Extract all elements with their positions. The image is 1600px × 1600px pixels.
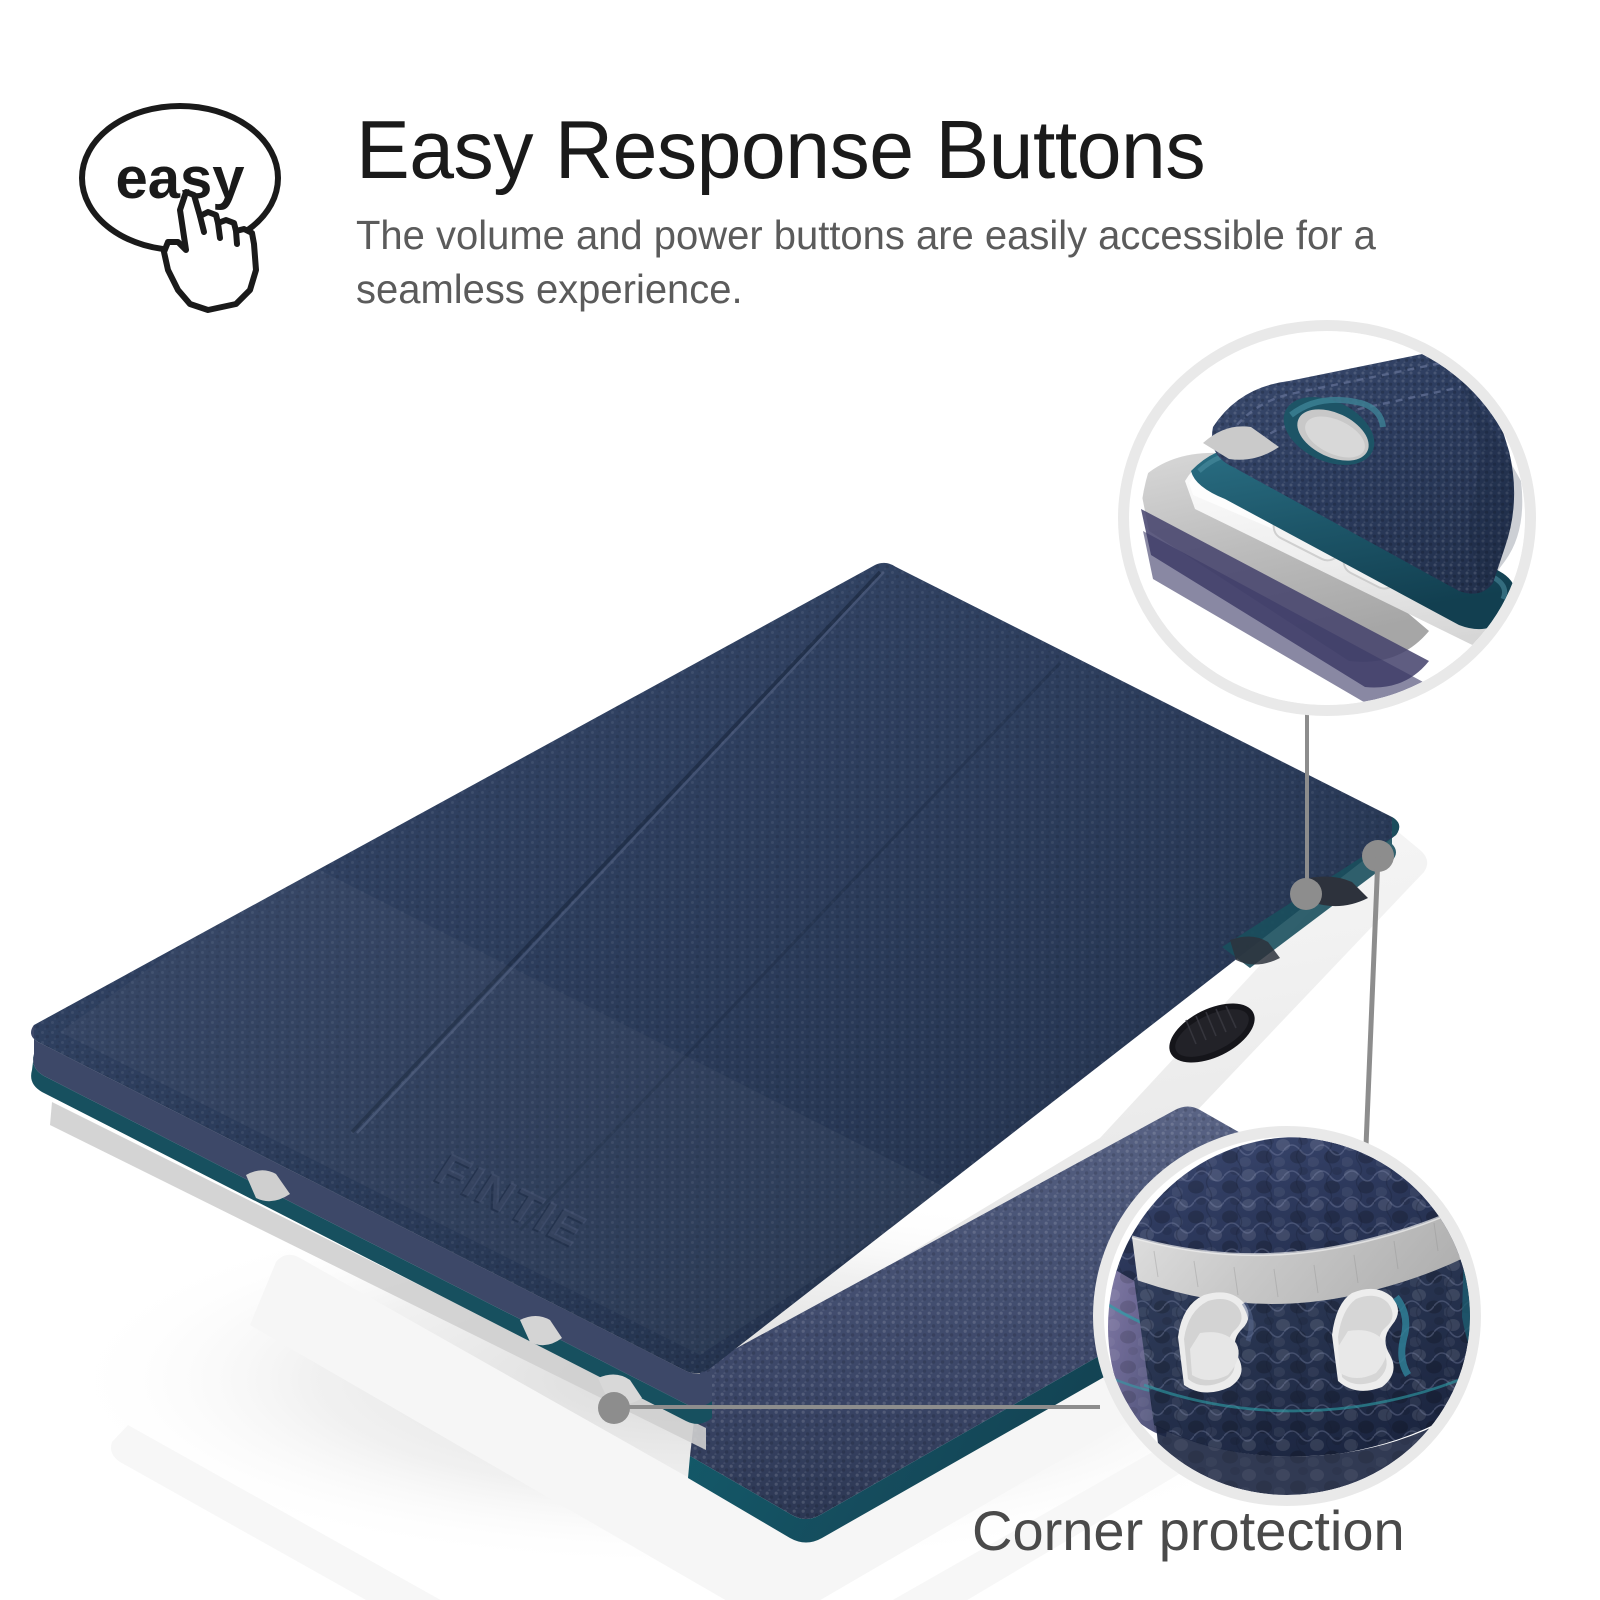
callout-corner-protection-image <box>1104 1137 1470 1495</box>
leader-line-buttons <box>1305 712 1309 894</box>
callout-button-cutouts <box>1118 320 1536 716</box>
caption-corner-protection: Corner protection <box>972 1500 1405 1562</box>
easy-button-badge: easy <box>68 92 368 322</box>
leader-dot-buttons <box>1290 878 1322 910</box>
product-feature-graphic: easy Easy Response Buttons The volume an… <box>0 0 1600 1600</box>
page-title: Easy Response Buttons <box>356 104 1520 196</box>
easy-click-icon: easy <box>68 92 368 322</box>
leader-line-corner-right <box>1340 850 1420 1150</box>
leader-line-corner-left <box>620 1405 1100 1409</box>
page-subtitle: The volume and power buttons are easily … <box>356 208 1526 316</box>
callout-corner-protection <box>1093 1126 1481 1506</box>
header-text-block: Easy Response Buttons The volume and pow… <box>356 104 1556 316</box>
callout-button-cutouts-image <box>1129 331 1525 705</box>
